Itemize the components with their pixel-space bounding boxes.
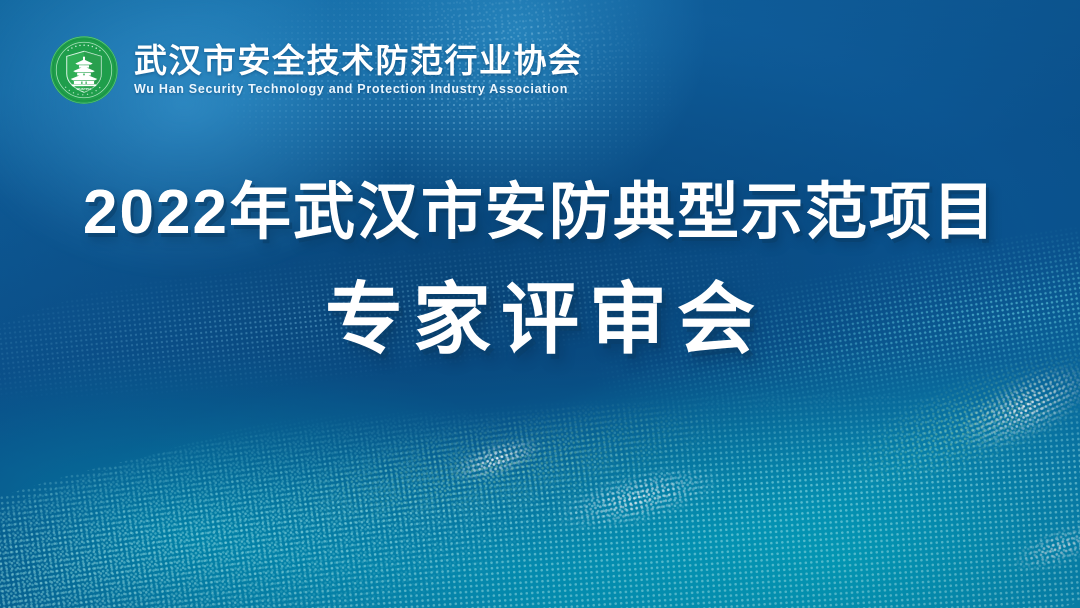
headline-block: 2022年武汉市安防典型示范项目 专家评审会 [0,176,1080,364]
association-lockup: WHSTPIA 武汉市安全技术防范行业协会 Wu Han Security Te… [48,34,583,106]
banner-canvas: WHSTPIA 武汉市安全技术防范行业协会 Wu Han Security Te… [0,0,1080,608]
headline-line-1: 2022年武汉市安防典型示范项目 [0,176,1080,249]
association-name-en: Wu Han Security Technology and Protectio… [134,82,583,96]
association-name-block: 武汉市安全技术防范行业协会 Wu Han Security Technology… [134,44,583,96]
association-name-cn: 武汉市安全技术防范行业协会 [134,44,583,79]
svg-text:WHSTPIA: WHSTPIA [77,87,93,91]
headline-line-2: 专家评审会 [0,275,1080,364]
association-emblem-icon: WHSTPIA [48,34,120,106]
